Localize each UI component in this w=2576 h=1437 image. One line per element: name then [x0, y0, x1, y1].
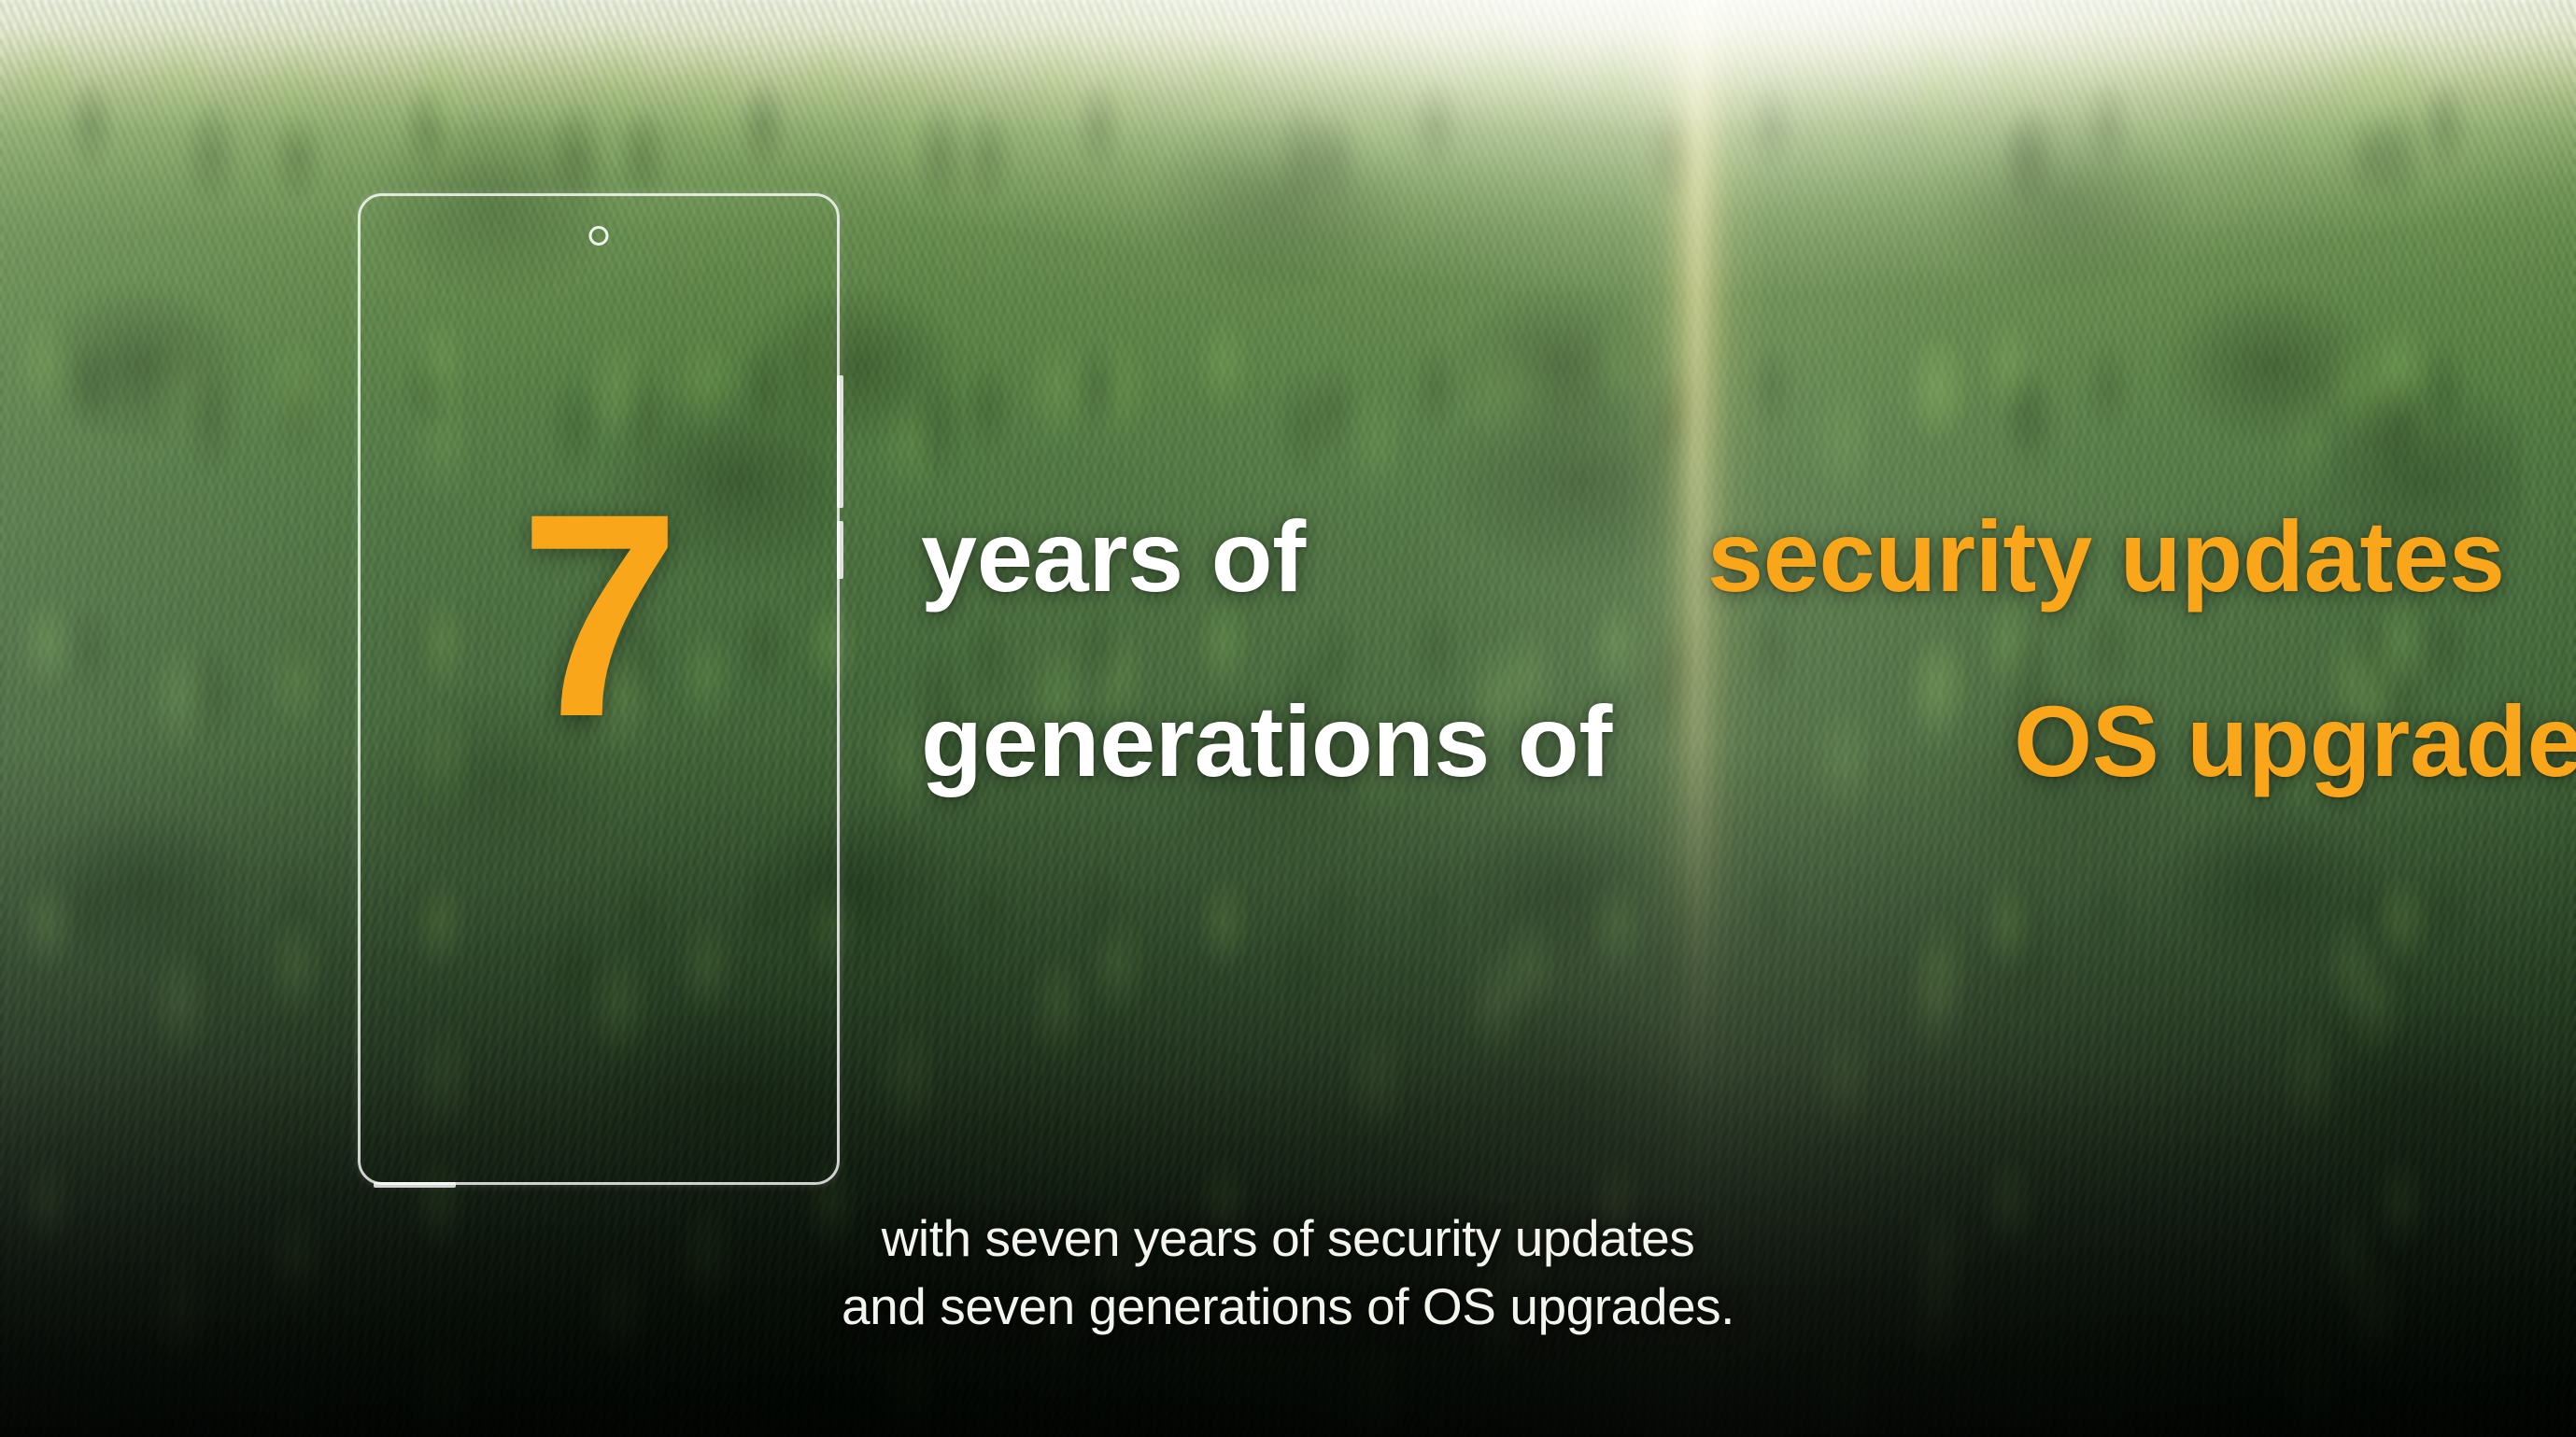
volume-rocker-button — [837, 375, 843, 508]
headline-line2-accent: OS upgrades — [2014, 687, 2576, 796]
headline-block: 7 years of security updates generations … — [519, 502, 2294, 827]
big-number-seven: 7 — [519, 491, 666, 740]
headline-line-1: years of security updates — [519, 502, 2294, 642]
caption-line-1: with seven years of security updates — [0, 1205, 2576, 1274]
headline-line1-white: years of — [921, 502, 1306, 612]
headline-line2-white: generations of — [921, 687, 1612, 796]
camera-punch-hole-icon — [589, 226, 609, 246]
caption-line-2: and seven generations of OS upgrades. — [0, 1273, 2576, 1342]
headline-line1-accent: security updates — [1707, 502, 2505, 612]
caption-block: with seven years of security updates and… — [0, 1205, 2576, 1342]
headline-line-2: generations of OS upgrades — [519, 687, 2294, 827]
s-pen-slot — [374, 1182, 456, 1188]
video-frame-stage: 7 years of security updates generations … — [0, 0, 2576, 1437]
